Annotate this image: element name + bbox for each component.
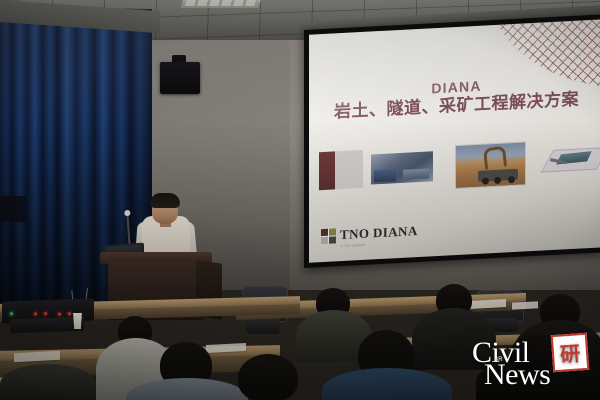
paper-sheet: [512, 301, 538, 309]
status-led: [58, 313, 61, 316]
slide-logo-text: TNO DIANA: [340, 223, 418, 243]
status-led: [44, 312, 47, 315]
audience-head-foreground: [510, 334, 564, 374]
wall-speaker-icon: [160, 62, 200, 94]
slide-logo: TNO DIANA a TNO company: [321, 223, 418, 244]
status-led: [68, 312, 71, 315]
projection-screen-surface: DIANA 岩土、隧道、采矿工程解决方案: [309, 19, 600, 262]
status-led: [10, 312, 13, 315]
excavator-photo-thumbnail: [455, 141, 526, 189]
tno-diana-logo-icon: [321, 228, 336, 244]
glasses-icon: [153, 205, 177, 211]
excavator-arm-icon: [483, 145, 507, 169]
audience-shoulders-foreground: [322, 368, 452, 400]
truck-wheel-icon: [494, 177, 501, 184]
projection-screen-frame: DIANA 岩土、隧道、采矿工程解决方案: [304, 14, 600, 268]
status-led: [34, 312, 37, 315]
conference-room: DIANA 岩土、隧道、采矿工程解决方案: [0, 0, 600, 400]
audience-head-foreground: [238, 354, 298, 400]
audience-shoulders-foreground: [0, 364, 96, 400]
maroon-block-thumbnail: [319, 151, 335, 190]
fem-model-thumbnail: [371, 151, 433, 184]
gray-block-thumbnail: [335, 150, 363, 189]
truck-wheel-icon: [482, 177, 489, 184]
slide-title-block: DIANA 岩土、隧道、采矿工程解决方案: [309, 71, 600, 125]
slide-logo-subtext: a TNO company: [341, 243, 365, 248]
presentation-photo-scene: DIANA 岩土、隧道、采矿工程解决方案: [0, 0, 600, 400]
slide-thumbnail-row: [315, 137, 600, 202]
av-amplifier-unit: [10, 317, 84, 334]
wall-speaker-secondary-icon: [0, 196, 26, 222]
tunnel-model-thumbnail: [547, 141, 600, 176]
chair-seat: [246, 318, 280, 334]
truck-wheel-icon: [508, 176, 515, 183]
audience-shoulders: [412, 308, 496, 370]
